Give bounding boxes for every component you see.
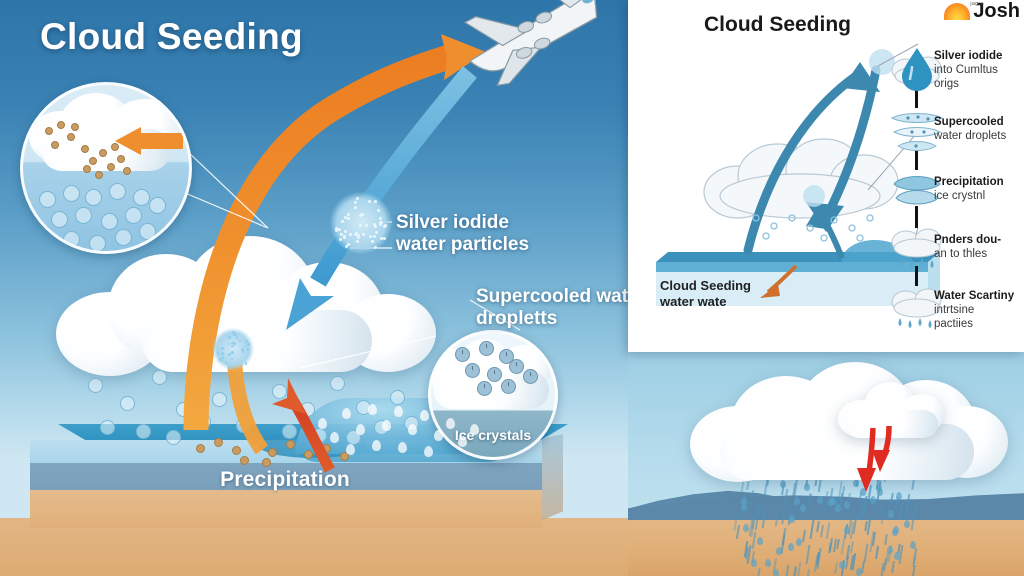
step-2-detail-1: water droplets	[934, 130, 1006, 144]
step-5-detail-1: intrtsine	[934, 304, 1014, 318]
step-3-title: Precipitation	[934, 176, 1004, 190]
inset-caption-line2: water wate	[660, 294, 751, 310]
inset-panel: Cloud Seeding	[628, 0, 1024, 352]
water-droplet	[346, 444, 355, 455]
water-droplet	[458, 436, 467, 447]
inset-caption-line1: Cloud Seeding	[660, 278, 751, 294]
step-2-text: Supercooled water droplets	[934, 116, 1006, 144]
logo-superscript: jaɡra	[970, 1, 984, 7]
brand-logo: jaɡra Josh	[944, 2, 1020, 20]
step-2-title: Supercooled	[934, 116, 1006, 130]
step-4-text: Pnders dou- an to thles	[934, 234, 1001, 262]
water-droplet	[420, 410, 429, 421]
water-droplet	[382, 420, 391, 431]
step-5-text: Water Scartiny intrtsine pactiies	[934, 290, 1014, 331]
step-1-detail-2: origs	[934, 78, 1002, 92]
water-droplet	[342, 408, 351, 419]
step-1-text: Silver iodide into Cumltus origs	[934, 50, 1002, 91]
water-droplet	[408, 424, 417, 435]
step-3-detail-1: ice crystnl	[934, 190, 1004, 204]
step-1-title: Silver iodide	[934, 50, 1002, 64]
water-droplet	[424, 446, 433, 457]
step-5-title: Water Scartiny	[934, 290, 1014, 304]
inset-panel-caption: Cloud Seeding water wate	[660, 278, 751, 311]
water-droplet	[394, 406, 403, 417]
inset-cloud	[704, 139, 898, 218]
water-droplet	[434, 430, 443, 441]
water-droplet	[356, 424, 365, 435]
sun-icon	[944, 3, 970, 20]
water-droplet	[372, 440, 381, 451]
water-droplet	[368, 404, 377, 415]
step-1-detail-1: into Cumltus	[934, 64, 1002, 78]
water-droplet	[318, 418, 327, 429]
red-downdraft-arrows	[857, 426, 890, 492]
step-3-text: Precipitation ice crystnl	[934, 176, 1004, 204]
water-droplet	[446, 418, 455, 429]
water-droplet	[398, 442, 407, 453]
step-4-detail-1: an to thles	[934, 248, 1001, 262]
water-droplet	[330, 432, 339, 443]
water-droplet	[470, 424, 479, 435]
step-4-title: Pnders dou-	[934, 234, 1001, 248]
step-5-detail-2: pactiies	[934, 318, 1014, 332]
infographic-canvas: Precipitation	[0, 0, 1024, 576]
